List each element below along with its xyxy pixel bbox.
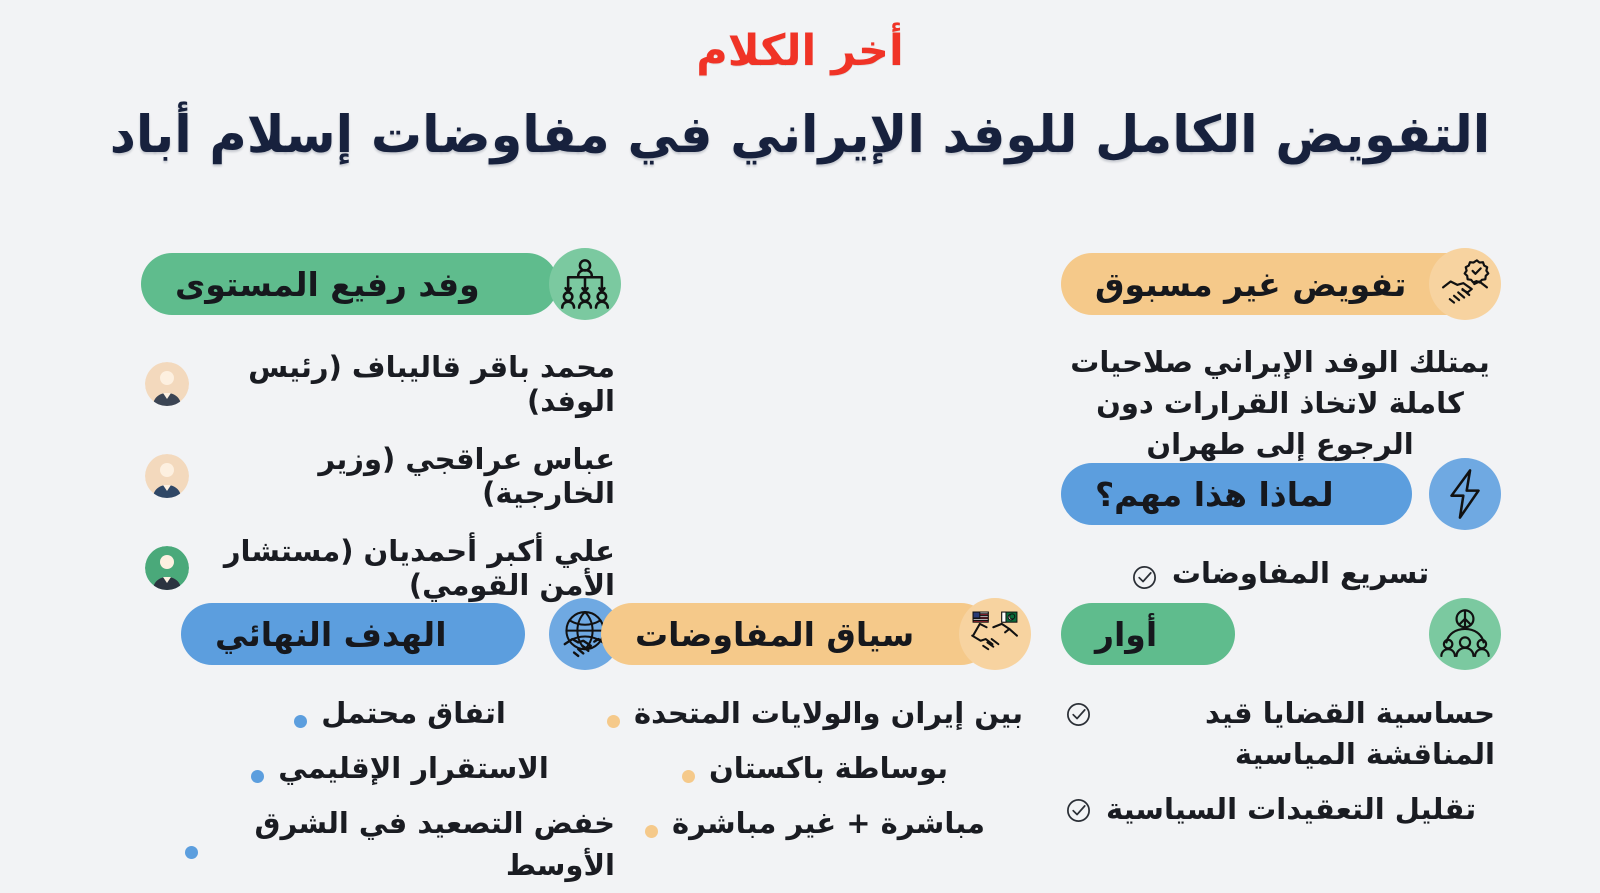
card-header: سياق المفاوضات — [605, 598, 1025, 670]
delegate-name: محمد باقر قاليباف (رئيس الوفد) — [203, 350, 615, 418]
list-item: اتفاق محتمل — [185, 686, 615, 741]
bullet-dot-icon — [607, 715, 620, 728]
bullet-dot-icon — [645, 825, 658, 838]
infographic-canvas: أخر الكلام التفويض الكامل للوفد الإيراني… — [0, 0, 1600, 893]
check-circle-icon — [1131, 564, 1158, 591]
list-item: محمد باقر قاليباف (رئيس الوفد) — [145, 338, 615, 430]
peace-people-icon — [1429, 598, 1501, 670]
card-title: أوار — [1061, 603, 1235, 665]
bullet-dot-icon — [185, 846, 198, 859]
flags-handshake-icon — [959, 598, 1031, 670]
avatar-icon — [145, 454, 189, 498]
org-chart-people-icon — [549, 248, 621, 320]
lightning-bolt-icon — [1429, 458, 1501, 530]
list-item-label: الاستقرار الإقليمي — [278, 748, 549, 789]
list-item-label: تقليل التعقيدات السياسية — [1106, 789, 1476, 830]
card-roles: أوار حساسية القضايا قيد المناقشة المياسي… — [1065, 598, 1495, 838]
card-header: وفد رفيع المستوى — [145, 248, 615, 320]
card-why-important: لماذا هذا مهم؟ تسريع المفاوضات — [1065, 458, 1495, 601]
list-item-label: اتفاق محتمل — [321, 693, 506, 734]
list-item-label: مباشرة + غير مباشرة — [672, 803, 985, 844]
card-delegation: وفد رفيع المستوى محمد باقر قاليباف (رئيس… — [145, 248, 615, 614]
list-item: بين إيران والولايات المتحدة — [605, 686, 1025, 741]
delegate-list: محمد باقر قاليباف (رئيس الوفد) عباس عراق… — [145, 338, 615, 614]
list-item-label: خفض التصعيد في الشرق الأوسط — [212, 803, 615, 885]
bullet-dot-icon — [294, 715, 307, 728]
list-item-label: بين إيران والولايات المتحدة — [634, 693, 1023, 734]
card-title: سياق المفاوضات — [601, 603, 992, 665]
roles-list: حساسية القضايا قيد المناقشة المياسية تقل… — [1065, 686, 1495, 838]
bullet-dot-icon — [251, 770, 264, 783]
page-title: التفويض الكامل للوفد الإيراني في مفاوضات… — [0, 104, 1600, 168]
card-header: الهدف النهائي — [185, 598, 615, 670]
bullet-dot-icon — [682, 770, 695, 783]
list-item: تسريع المفاوضات — [1065, 546, 1495, 601]
list-item-label: بوساطة باكستان — [709, 748, 948, 789]
card-final-goal: الهدف النهائي اتفاق محتمل الاستقرار الإق… — [185, 598, 615, 893]
list-item: عباس عراقجي (وزير الخارجية) — [145, 430, 615, 522]
list-item: مباشرة + غير مباشرة — [605, 796, 1025, 851]
card-header: تفويض غير مسبوق — [1065, 248, 1495, 320]
check-circle-icon — [1065, 797, 1092, 824]
context-list: بين إيران والولايات المتحدة بوساطة باكست… — [605, 686, 1025, 852]
delegate-name: عباس عراقجي (وزير الخارجية) — [203, 442, 615, 510]
avatar-icon — [145, 546, 189, 590]
list-item: خفض التصعيد في الشرق الأوسط — [185, 796, 615, 892]
card-paragraph: يمتلك الوفد الإيراني صلاحيات كاملة لاتخا… — [1065, 342, 1495, 466]
card-header: لماذا هذا مهم؟ — [1065, 458, 1495, 530]
card-negotiation-context: سياق المفاوضات — [605, 598, 1025, 852]
why-list: تسريع المفاوضات — [1065, 546, 1495, 601]
list-item-label: حساسية القضايا قيد المناقشة المياسية — [1106, 693, 1495, 775]
card-header: أوار — [1065, 598, 1495, 670]
card-title: الهدف النهائي — [181, 603, 525, 665]
handshake-badge-icon — [1429, 248, 1501, 320]
check-circle-icon — [1065, 701, 1092, 728]
avatar-icon — [145, 362, 189, 406]
list-item: تقليل التعقيدات السياسية — [1065, 782, 1495, 837]
delegate-name: علي أكبر أحمديان (مستشار الأمن القومي) — [203, 534, 615, 602]
card-title: لماذا هذا مهم؟ — [1061, 463, 1412, 525]
list-item: حساسية القضايا قيد المناقشة المياسية — [1065, 686, 1495, 782]
list-item-label: تسريع المفاوضات — [1172, 553, 1429, 594]
brand-logo: أخر الكلام — [0, 26, 1600, 76]
list-item: بوساطة باكستان — [605, 741, 1025, 796]
card-mandate: تفويض غير مسبوق يمتلك الوفد الإيراني صلا… — [1065, 248, 1495, 466]
card-title: وفد رفيع المستوى — [141, 253, 558, 315]
card-title: تفويض غير مسبوق — [1061, 253, 1484, 315]
goal-list: اتفاق محتمل الاستقرار الإقليمي خفض التصع… — [185, 686, 615, 893]
list-item: الاستقرار الإقليمي — [185, 741, 615, 796]
